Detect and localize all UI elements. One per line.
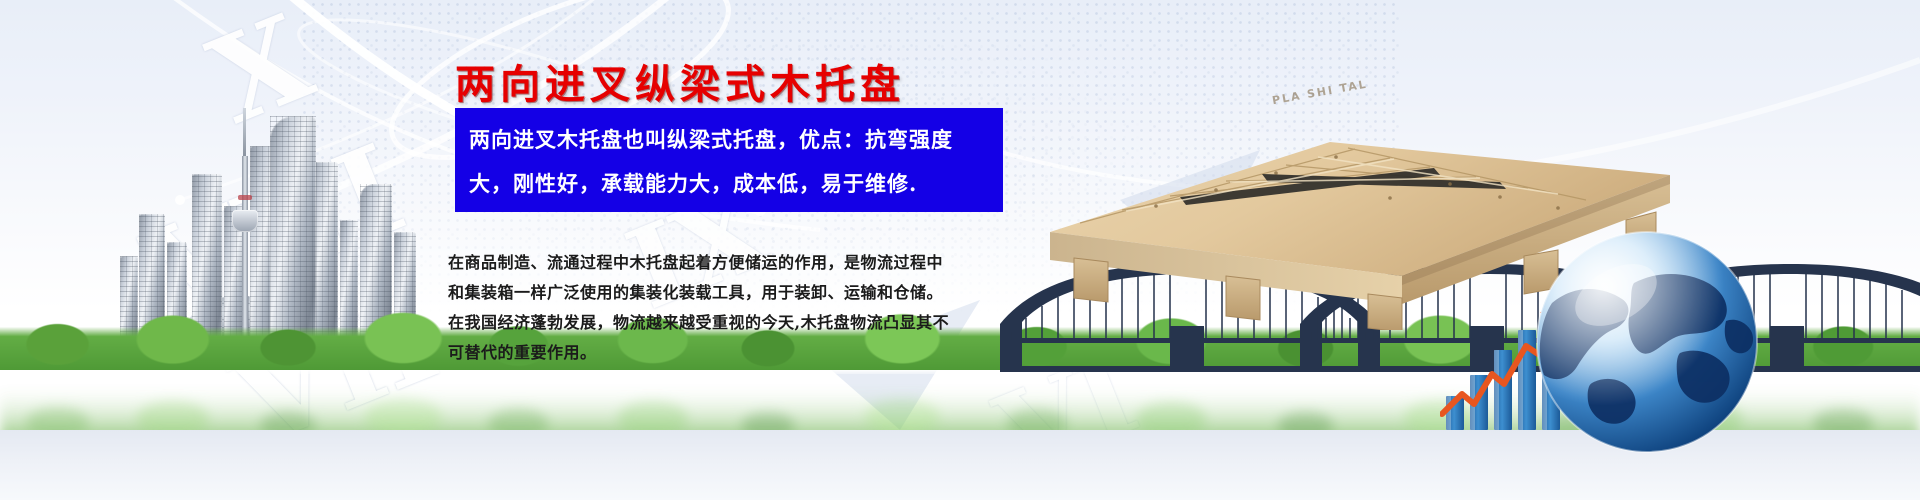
page-title: 两向进叉纵梁式木托盘 <box>455 52 905 110</box>
globe-graphic <box>1530 225 1765 460</box>
paragraph-line: 和集装箱一样广泛使用的集装化装载工具，用于装卸、运输和仓储。 <box>448 278 1068 308</box>
product-banner: X VIII VII IX VI <box>0 0 1920 500</box>
callout-line: 大，刚性好，承载能力大，成本低，易于维修. <box>469 162 991 206</box>
pallet-brand-stamp: PLA SHI TAL <box>1271 80 1368 107</box>
paragraph-line: 在我国经济蓬勃发展，物流越来越受重视的今天,木托盘物流凸显其不 <box>448 308 1068 338</box>
callout-line: 两向进叉木托盘也叫纵梁式托盘，优点：抗弯强度 <box>469 118 991 162</box>
paragraph-line: 可替代的重要作用。 <box>448 338 1068 368</box>
description-paragraph: 在商品制造、流通过程中木托盘起着方便储运的作用，是物流过程中 和集装箱一样广泛使… <box>448 248 1068 368</box>
paragraph-line: 在商品制造、流通过程中木托盘起着方便储运的作用，是物流过程中 <box>448 248 1068 278</box>
highlight-callout-box: 两向进叉木托盘也叫纵梁式托盘，优点：抗弯强度 大，刚性好，承载能力大，成本低，易… <box>455 108 1003 212</box>
